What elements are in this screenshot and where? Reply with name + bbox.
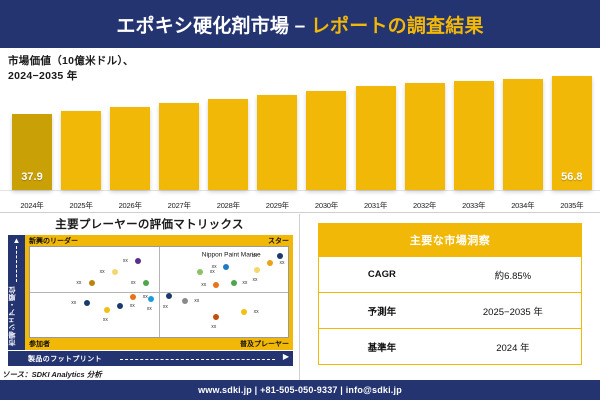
- matrix-label-emerging-leaders: 新興のリーダー: [29, 236, 78, 246]
- matrix-data-point-label: xx: [279, 260, 284, 266]
- bar-column: [503, 58, 543, 190]
- chart-baseline: [0, 190, 600, 191]
- matrix-data-point: [213, 314, 219, 320]
- insight-row: 基準年2024 年: [318, 329, 582, 365]
- insight-value: 約6.85%: [445, 268, 581, 282]
- matrix-data-point: [267, 260, 273, 266]
- matrix-label-pervasive-players: 普及プレーヤー: [240, 339, 289, 349]
- matrix-data-point: [117, 303, 123, 309]
- matrix-box: ▲ 市場シェア・順位 新興のリーダー スター 参加者 普及プレーヤー xxxxx…: [8, 235, 293, 350]
- insight-key: CAGR: [319, 269, 445, 280]
- matrix-data-point-label: xx: [210, 269, 215, 275]
- page-title-accent: レポートの調査結果: [311, 16, 484, 37]
- matrix-data-point-label: xx: [71, 300, 76, 306]
- matrix-data-point-label: xx: [201, 282, 206, 288]
- key-insights-table: 主要な市場洞察 CAGR約6.85%予測年2025−2035 年基準年2024 …: [318, 223, 582, 365]
- matrix-vertical-axis-label: 市場シェア・順位: [8, 283, 25, 349]
- matrix-named-player-label: Nippon Paint Marine: [202, 252, 261, 259]
- matrix-data-point: [135, 258, 141, 264]
- matrix-data-point-label: xx: [131, 280, 136, 286]
- x-axis-year-label: 2032年: [405, 200, 445, 211]
- x-axis-year-label: 2035年: [552, 200, 592, 211]
- footer-contact-text: www.sdki.jp | +81-505-050-9337 | info@sd…: [198, 385, 402, 395]
- matrix-data-point: [231, 280, 237, 286]
- bar: [306, 91, 346, 190]
- matrix-data-point: [104, 307, 110, 313]
- bar-column: 56.8: [552, 58, 592, 190]
- matrix-data-point-label: xx: [76, 280, 81, 286]
- matrix-data-point: [166, 293, 172, 299]
- x-axis-year-label: 2030年: [306, 200, 346, 211]
- insight-row: 予測年2025−2035 年: [318, 293, 582, 329]
- bar-column: 37.9: [12, 58, 52, 190]
- matrix-data-point: [148, 296, 154, 302]
- matrix-horizontal-axis-label: 製品のフットプリント: [28, 354, 102, 364]
- horizontal-dashed-line: [120, 359, 275, 360]
- matrix-data-point-label: xx: [211, 324, 216, 330]
- bar: [159, 103, 199, 190]
- matrix-data-point-label: xx: [123, 258, 128, 264]
- matrix-data-point: [213, 282, 219, 288]
- page-title: エポキシ硬化剤市場 – レポートの調査結果: [116, 11, 483, 38]
- matrix-data-point: [89, 280, 95, 286]
- bar-column: [306, 58, 346, 190]
- matrix-data-point-label: xx: [253, 277, 258, 283]
- matrix-horizontal-axis: 製品のフットプリント ▶: [8, 351, 293, 366]
- key-insights-panel: 主要な市場洞察 CAGR約6.85%予測年2025−2035 年基準年2024 …: [300, 213, 600, 381]
- matrix-data-point: [143, 280, 149, 286]
- insight-value: 2024 年: [445, 340, 581, 354]
- insight-row: CAGR約6.85%: [318, 257, 582, 293]
- insight-key: 基準年: [319, 340, 445, 354]
- matrix-label-participants: 参加者: [29, 339, 50, 349]
- infographic-page: エポキシ硬化剤市場 – レポートの調査結果 市場価値（10億米ドル）、 2024…: [0, 0, 600, 400]
- bar-series: 37.956.8: [12, 58, 592, 190]
- bar-value-label: 37.9: [12, 171, 52, 183]
- bar-column: [454, 58, 494, 190]
- bar: [454, 81, 494, 190]
- bar-column: [208, 58, 248, 190]
- matrix-data-point-label: xx: [143, 294, 148, 300]
- matrix-data-point-label: xx: [242, 280, 247, 286]
- bar-column: [405, 58, 445, 190]
- matrix-data-point-label: xx: [147, 306, 152, 312]
- key-insights-rows: CAGR約6.85%予測年2025−2035 年基準年2024 年: [318, 257, 582, 365]
- bar: 37.9: [12, 114, 52, 190]
- bar-column: [61, 58, 101, 190]
- market-value-chart: 市場価値（10億米ドル）、 2024−2035 年 37.956.8: [0, 48, 600, 198]
- matrix-title: 主要プレーヤーの評価マトリックス: [0, 216, 299, 232]
- bar-column: [356, 58, 396, 190]
- matrix-data-point-label: xx: [254, 309, 259, 315]
- matrix-data-point: [277, 253, 283, 259]
- matrix-data-point: [197, 269, 203, 275]
- insight-value: 2025−2035 年: [445, 304, 581, 318]
- insight-key: 予測年: [319, 304, 445, 318]
- x-axis-year-label: 2033年: [454, 200, 494, 211]
- matrix-data-point-label: xx: [103, 317, 108, 323]
- matrix-data-point: [182, 298, 188, 304]
- matrix-vertical-axis: ▲ 市場シェア・順位: [8, 235, 25, 350]
- chart-x-axis-labels: 2024年2025年2026年2027年2028年2029年2030年2031年…: [12, 200, 592, 211]
- arrow-right-icon: ▶: [283, 353, 289, 361]
- bar-column: [257, 58, 297, 190]
- header-bar: エポキシ硬化剤市場 – レポートの調査結果: [0, 0, 600, 48]
- matrix-data-point-label: xx: [163, 304, 168, 310]
- bar: [110, 107, 150, 190]
- matrix-data-point: [223, 264, 229, 270]
- matrix-data-point-label: xx: [194, 298, 199, 304]
- bar: [356, 86, 396, 190]
- footer-bar: www.sdki.jp | +81-505-050-9337 | info@sd…: [0, 380, 600, 400]
- bar: [61, 111, 101, 190]
- player-matrix-panel: 主要プレーヤーの評価マトリックス ▲ 市場シェア・順位 新興のリーダー スター …: [0, 213, 299, 381]
- matrix-scatter-plot: xxxxxxxxxxxxxxxxxxxxxxxxxxxxxxxxxxxxxxxx…: [29, 246, 289, 338]
- matrix-data-point: [112, 269, 118, 275]
- x-axis-year-label: 2031年: [356, 200, 396, 211]
- source-note: ソース：SDKI Analytics 分析: [2, 369, 102, 380]
- key-insights-header: 主要な市場洞察: [318, 223, 582, 257]
- matrix-data-point: [254, 267, 260, 273]
- bar: [208, 99, 248, 190]
- matrix-data-point: [130, 294, 136, 300]
- x-axis-year-label: 2028年: [208, 200, 248, 211]
- bar: 56.8: [552, 76, 592, 190]
- vertical-dashed-line: [16, 246, 17, 282]
- matrix-data-point-label: xx: [212, 264, 217, 270]
- x-axis-year-label: 2025年: [61, 200, 101, 211]
- arrow-up-icon: ▲: [8, 237, 25, 245]
- bar: [257, 95, 297, 190]
- bar: [405, 83, 445, 190]
- matrix-data-point-label: xx: [100, 269, 105, 275]
- x-axis-year-label: 2024年: [12, 200, 52, 211]
- quadrant-divider-horizontal: [30, 292, 288, 293]
- page-title-primary: エポキシ硬化剤市場 –: [116, 16, 305, 37]
- bar-column: [110, 58, 150, 190]
- x-axis-year-label: 2026年: [110, 200, 150, 211]
- x-axis-year-label: 2027年: [159, 200, 199, 211]
- matrix-data-point: [84, 300, 90, 306]
- bar-column: [159, 58, 199, 190]
- matrix-data-point-label: xx: [130, 303, 135, 309]
- x-axis-year-label: 2029年: [257, 200, 297, 211]
- matrix-label-stars: スター: [268, 236, 289, 246]
- matrix-quadrant-frame: 新興のリーダー スター 参加者 普及プレーヤー xxxxxxxxxxxxxxxx…: [25, 235, 293, 350]
- matrix-data-point: [241, 309, 247, 315]
- bar-value-label: 56.8: [552, 171, 592, 183]
- bar: [503, 79, 543, 190]
- x-axis-year-label: 2034年: [503, 200, 543, 211]
